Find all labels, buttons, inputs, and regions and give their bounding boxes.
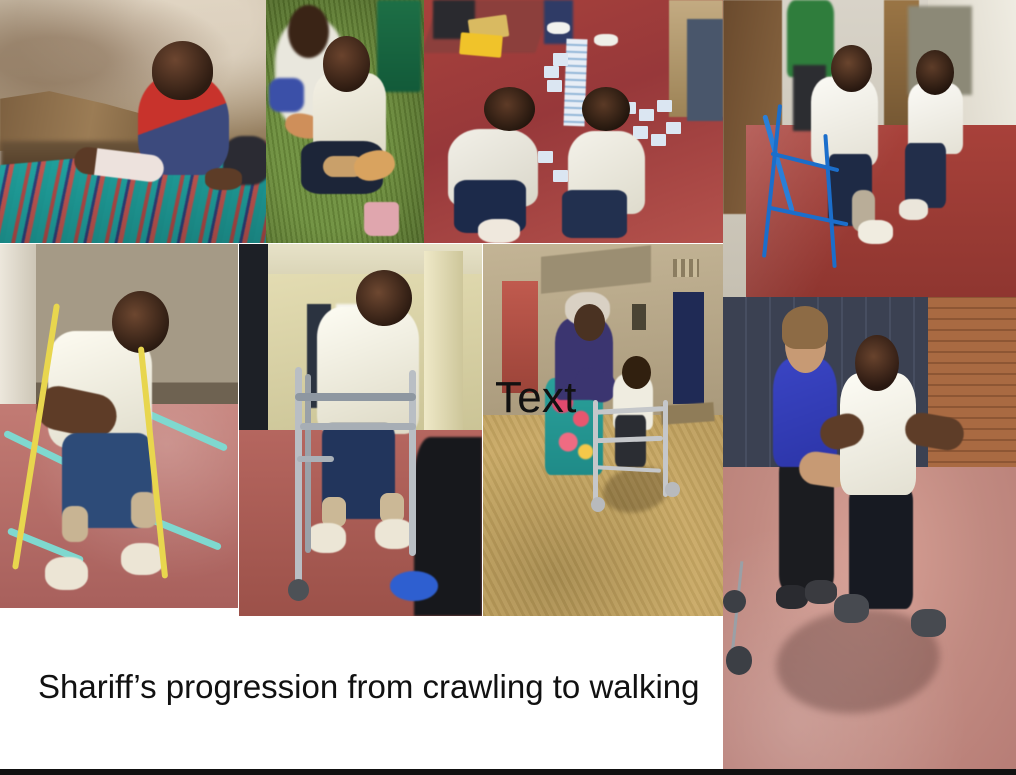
- photo-sitting-on-grass-scene: [266, 0, 424, 243]
- photo-boys-on-red-floor-scene: [424, 0, 723, 243]
- slide-bottom-edge: [0, 769, 1016, 775]
- photo-sitting-on-grass[interactable]: [266, 0, 424, 243]
- photo-walking-with-helper[interactable]: [723, 297, 1016, 769]
- slide-caption[interactable]: Shariff’s progression from crawling to w…: [38, 668, 700, 706]
- photo-aluminium-walker[interactable]: [239, 244, 482, 616]
- slide-canvas: Text Shariff’s progression from crawling…: [0, 0, 1016, 775]
- photo-parallel-bars[interactable]: [0, 244, 238, 608]
- photo-blue-walker-corridor[interactable]: [723, 0, 1016, 297]
- photo-walking-with-helper-scene: [723, 297, 1016, 769]
- photo-crawling-on-mat-scene: [0, 0, 266, 243]
- photo-boys-on-red-floor[interactable]: [424, 0, 723, 243]
- photo-aluminium-walker-scene: [239, 244, 482, 616]
- photo-blue-walker-corridor-scene: [723, 0, 1016, 297]
- photo-walker-outdoors-scene: [483, 244, 723, 616]
- photo-parallel-bars-scene: [0, 244, 238, 608]
- photo-walker-outdoors[interactable]: [483, 244, 723, 616]
- text-placeholder[interactable]: Text: [495, 376, 577, 420]
- photo-crawling-on-mat[interactable]: [0, 0, 266, 243]
